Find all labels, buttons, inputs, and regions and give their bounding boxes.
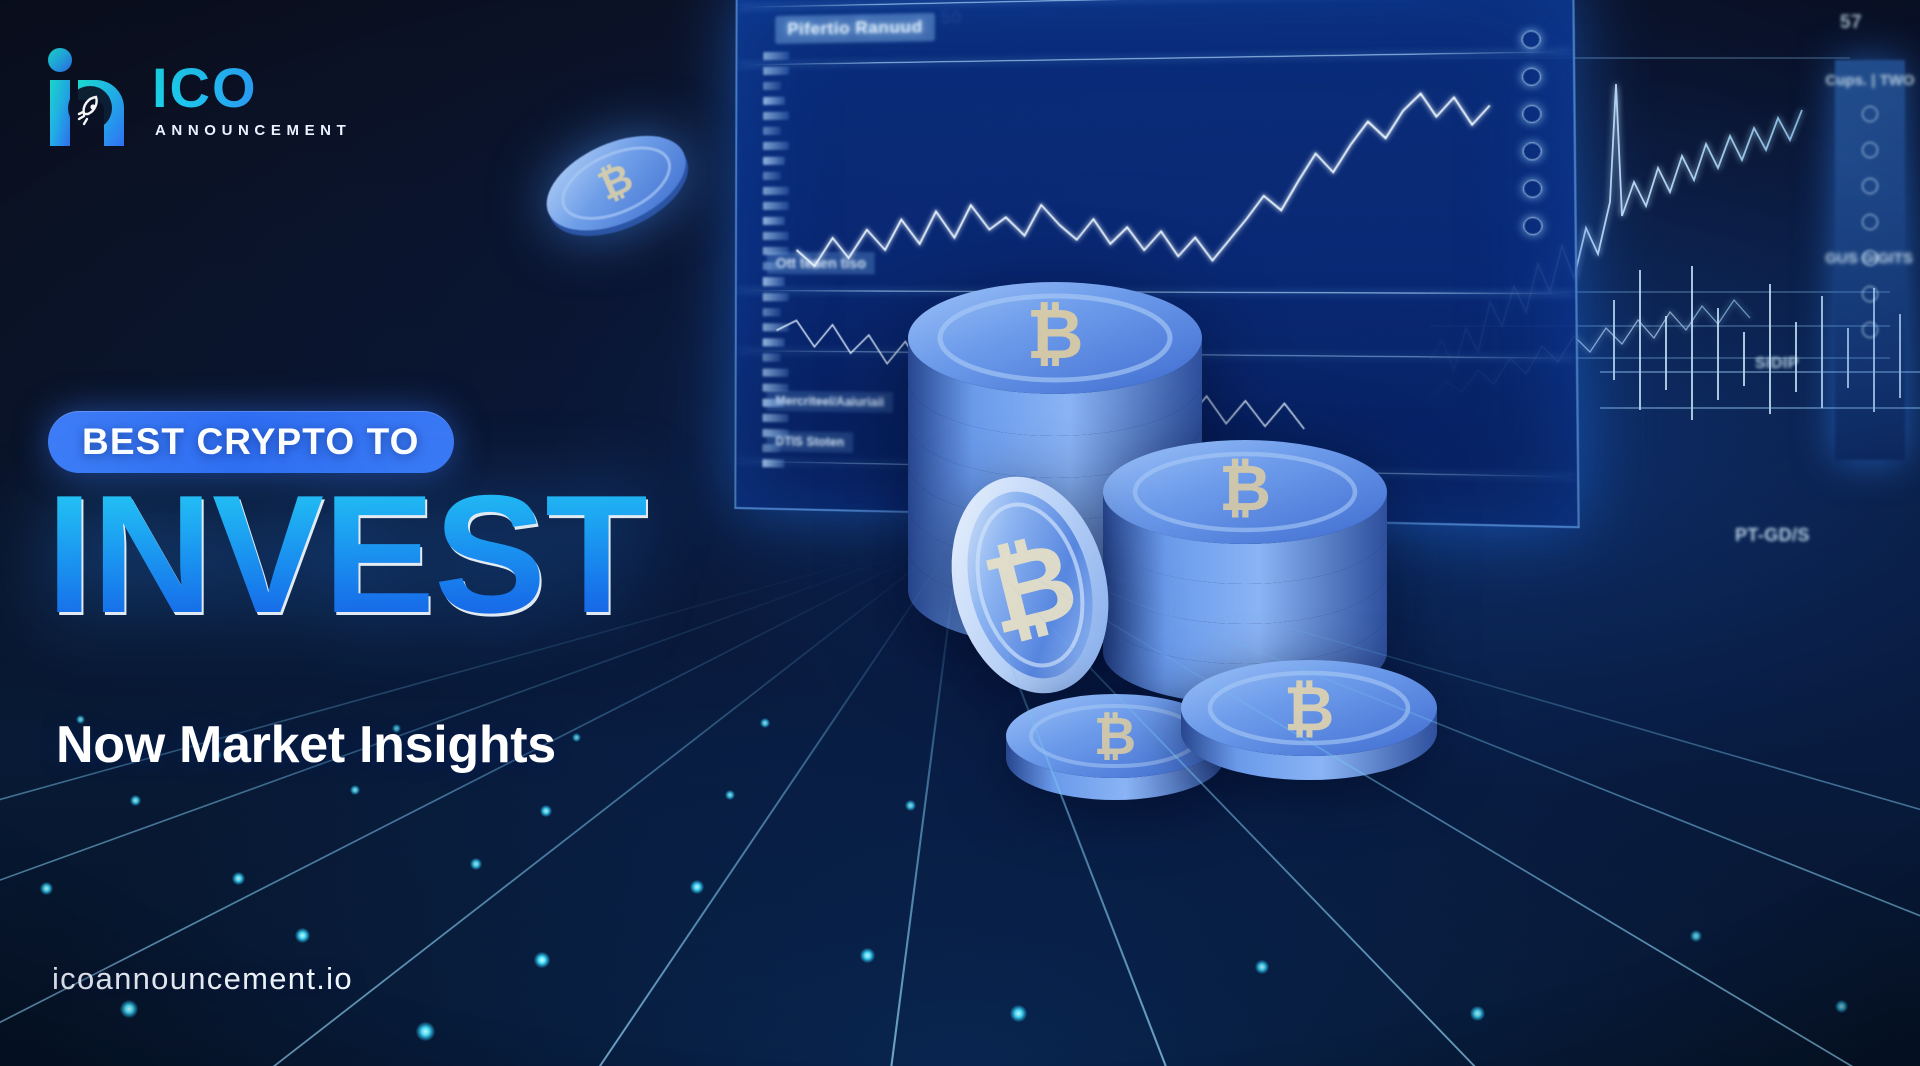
svg-text:₿: ₿ — [1026, 295, 1083, 373]
svg-text:₿: ₿ — [1219, 452, 1271, 524]
screen-title: Pifertio Ranuud — [775, 13, 935, 44]
ticker-label-right-top: 57 — [1840, 12, 1862, 34]
floating-coin: ₿ — [530, 105, 705, 265]
circle-icon — [1521, 30, 1540, 48]
banner-stage: Cups. | TWO GUS GIGITS 50 57 PT-GD/S SID… — [0, 0, 1920, 1066]
ico-rocket-logo-icon — [38, 46, 134, 150]
circle-icon — [1862, 178, 1878, 194]
circle-icon — [1862, 106, 1878, 122]
brand-name: ICO — [152, 61, 351, 114]
headline-subtitle: Now Market Insights — [56, 715, 556, 775]
bgpanel-label-mid: GUS GIGITS — [1789, 250, 1920, 267]
circle-icon — [1862, 142, 1878, 158]
power-icon — [1862, 322, 1878, 338]
bgpanel-label-top: Cups. | TWO — [1795, 72, 1920, 89]
square-icon — [1862, 214, 1878, 230]
headline-badge-label: BEST CRYPTO TO — [82, 421, 420, 463]
background-chart-side-rail: Cups. | TWO GUS GIGITS — [1835, 60, 1905, 460]
brand-logo[interactable]: ICO ANNOUNCEMENT — [38, 46, 351, 150]
circle-icon — [1862, 286, 1878, 302]
headline-title: INVEST — [46, 470, 647, 638]
ticker-label-panel-low: SIDIP — [1755, 355, 1799, 373]
website-url: icoannouncement.io — [52, 961, 353, 997]
brand-tagline: ANNOUNCEMENT — [155, 122, 351, 139]
